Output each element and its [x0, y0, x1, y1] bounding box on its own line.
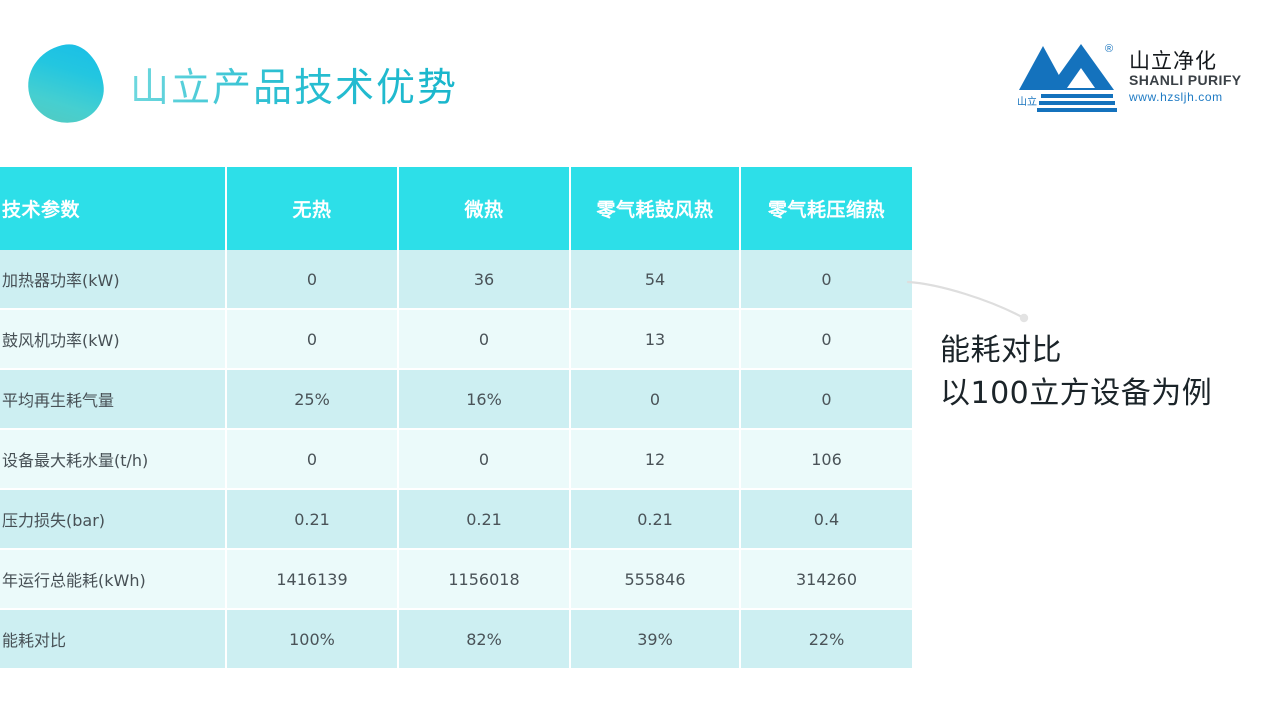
company-logo: ® 山立 山立净化 SHANLI PURIFY www.hzsljh.com [1017, 38, 1252, 120]
decorative-blob-shape [23, 40, 108, 128]
cell-value: 314260 [740, 549, 912, 609]
cell-value: 13 [570, 309, 740, 369]
logo-name-en: SHANLI PURIFY [1129, 72, 1254, 90]
cell-value: 0.4 [740, 489, 912, 549]
table-row: 年运行总能耗(kWh) 1416139 1156018 555846 31426… [0, 549, 912, 609]
cell-value: 36 [398, 250, 570, 309]
callout-line-2: 以100立方设备为例 [940, 373, 1270, 416]
column-header-compression-heat: 零气耗压缩热 [740, 167, 912, 250]
logo-text-block: 山立净化 SHANLI PURIFY www.hzsljh.com [1129, 50, 1254, 105]
table-row: 能耗对比 100% 82% 39% 22% [0, 609, 912, 668]
table-row: 鼓风机功率(kW) 0 0 13 0 [0, 309, 912, 369]
cell-value: 54 [570, 250, 740, 309]
table-header: 技术参数 无热 微热 零气耗鼓风热 零气耗压缩热 [0, 167, 912, 250]
row-label: 鼓风机功率(kW) [0, 309, 226, 369]
cell-value: 0.21 [226, 489, 398, 549]
technical-parameters-table: 技术参数 无热 微热 零气耗鼓风热 零气耗压缩热 加热器功率(kW) 0 36 … [0, 167, 912, 668]
comparison-table-container: 技术参数 无热 微热 零气耗鼓风热 零气耗压缩热 加热器功率(kW) 0 36 … [0, 167, 912, 654]
callout-annotation: 能耗对比 以100立方设备为例 [940, 330, 1270, 415]
cell-value: 555846 [570, 549, 740, 609]
cell-value: 0 [226, 250, 398, 309]
row-label: 平均再生耗气量 [0, 369, 226, 429]
cell-value: 0 [740, 250, 912, 309]
row-label: 能耗对比 [0, 609, 226, 668]
cell-value: 0 [226, 429, 398, 489]
table-row: 压力损失(bar) 0.21 0.21 0.21 0.4 [0, 489, 912, 549]
table-row: 设备最大耗水量(t/h) 0 0 12 106 [0, 429, 912, 489]
row-label: 设备最大耗水量(t/h) [0, 429, 226, 489]
cell-value: 1156018 [398, 549, 570, 609]
row-label: 加热器功率(kW) [0, 250, 226, 309]
slide-header: 山立产品技术优势 ® 山立 山立净化 SHANLI PURIFY www.hzs… [0, 0, 1280, 150]
cell-value: 82% [398, 609, 570, 668]
cell-value: 16% [398, 369, 570, 429]
logo-website-url: www.hzsljh.com [1129, 90, 1254, 105]
cell-value: 0 [398, 429, 570, 489]
cell-value: 106 [740, 429, 912, 489]
cell-value: 39% [570, 609, 740, 668]
cell-value: 0 [398, 309, 570, 369]
column-header-blower-heat: 零气耗鼓风热 [570, 167, 740, 250]
callout-line-1: 能耗对比 [940, 330, 1270, 373]
row-label: 年运行总能耗(kWh) [0, 549, 226, 609]
cell-value: 0 [570, 369, 740, 429]
column-header-parameter: 技术参数 [0, 167, 226, 250]
cell-value: 22% [740, 609, 912, 668]
page-title: 山立产品技术优势 [130, 57, 458, 113]
table-row: 平均再生耗气量 25% 16% 0 0 [0, 369, 912, 429]
cell-value: 0 [226, 309, 398, 369]
cell-value: 25% [226, 369, 398, 429]
column-header-heatless: 无热 [226, 167, 398, 250]
registered-trademark-icon: ® [1105, 44, 1113, 55]
cell-value: 0 [740, 369, 912, 429]
column-header-micro-heat: 微热 [398, 167, 570, 250]
cell-value: 12 [570, 429, 740, 489]
cell-value: 0 [740, 309, 912, 369]
cell-value: 0.21 [398, 489, 570, 549]
table-body: 加热器功率(kW) 0 36 54 0 鼓风机功率(kW) 0 0 13 0 平… [0, 250, 912, 668]
table-row: 加热器功率(kW) 0 36 54 0 [0, 250, 912, 309]
cell-value: 1416139 [226, 549, 398, 609]
logo-name-cn: 山立净化 [1129, 50, 1254, 72]
table-header-row: 技术参数 无热 微热 零气耗鼓风热 零气耗压缩热 [0, 167, 912, 250]
cell-value: 0.21 [570, 489, 740, 549]
logo-mark-label: 山立 [1017, 98, 1037, 108]
row-label: 压力损失(bar) [0, 489, 226, 549]
cell-value: 100% [226, 609, 398, 668]
